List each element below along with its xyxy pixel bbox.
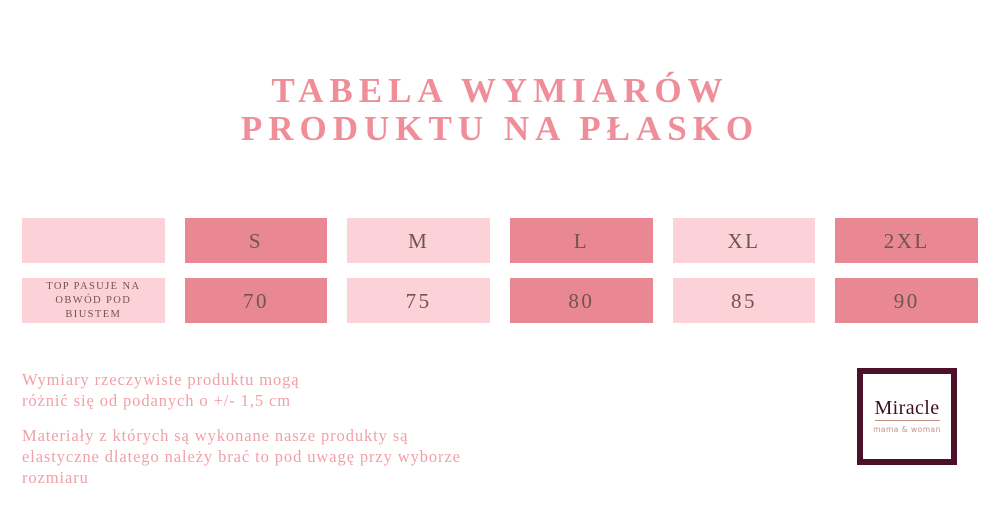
page-title: TABELA WYMIARÓW PRODUKTU NA PŁASKO: [0, 72, 1000, 148]
table-cell-size-m: M: [347, 218, 490, 263]
brand-logo-tagline: mama & woman: [873, 424, 941, 435]
table-cell-size-s: S: [185, 218, 328, 263]
table-cell-value-m-text: 75: [406, 290, 432, 312]
table-cell-value-2xl: 90: [835, 278, 978, 323]
brand-logo-name: Miracle: [875, 398, 940, 421]
table-cell-size-xl: XL: [673, 218, 816, 263]
footnote-tolerance: Wymiary rzeczywiste produktu mogą różnić…: [22, 369, 542, 411]
page-title-line-1: TABELA WYMIARÓW: [0, 72, 1000, 110]
table-cell-value-xl: 85: [673, 278, 816, 323]
footnotes: Wymiary rzeczywiste produktu mogą różnić…: [22, 369, 542, 488]
table-cell-measurement-label: TOP PASUJE NA OBWÓD POD BIUSTEM: [22, 278, 165, 323]
table-cell-value-2xl-text: 90: [894, 290, 920, 312]
table-cell-size-2xl-text: 2XL: [884, 230, 930, 252]
page-title-line-2: PRODUKTU NA PŁASKO: [0, 110, 1000, 148]
table-row-measurements: TOP PASUJE NA OBWÓD POD BIUSTEM 70 75 80…: [22, 278, 978, 323]
table-cell-size-xl-text: XL: [728, 230, 761, 252]
table-cell-value-l: 80: [510, 278, 653, 323]
table-cell-value-xl-text: 85: [731, 290, 757, 312]
size-table: S M L XL 2XL TOP PASUJE NA OBWÓD POD BIU…: [22, 218, 978, 323]
table-row-sizes: S M L XL 2XL: [22, 218, 978, 263]
table-cell-measurement-label-text: TOP PASUJE NA OBWÓD POD BIUSTEM: [22, 280, 165, 322]
table-cell-size-m-text: M: [408, 230, 429, 252]
table-cell-value-s: 70: [185, 278, 328, 323]
table-cell-size-s-text: S: [249, 230, 263, 252]
table-cell-size-l-text: L: [574, 230, 589, 252]
table-cell-value-l-text: 80: [568, 290, 594, 312]
footnote-elasticity: Materiały z których są wykonane nasze pr…: [22, 425, 542, 488]
table-cell-value-m: 75: [347, 278, 490, 323]
table-cell-value-s-text: 70: [243, 290, 269, 312]
table-cell-size-l: L: [510, 218, 653, 263]
table-cell-header-corner: [22, 218, 165, 263]
brand-logo: Miracle mama & woman: [857, 368, 957, 465]
table-cell-size-2xl: 2XL: [835, 218, 978, 263]
